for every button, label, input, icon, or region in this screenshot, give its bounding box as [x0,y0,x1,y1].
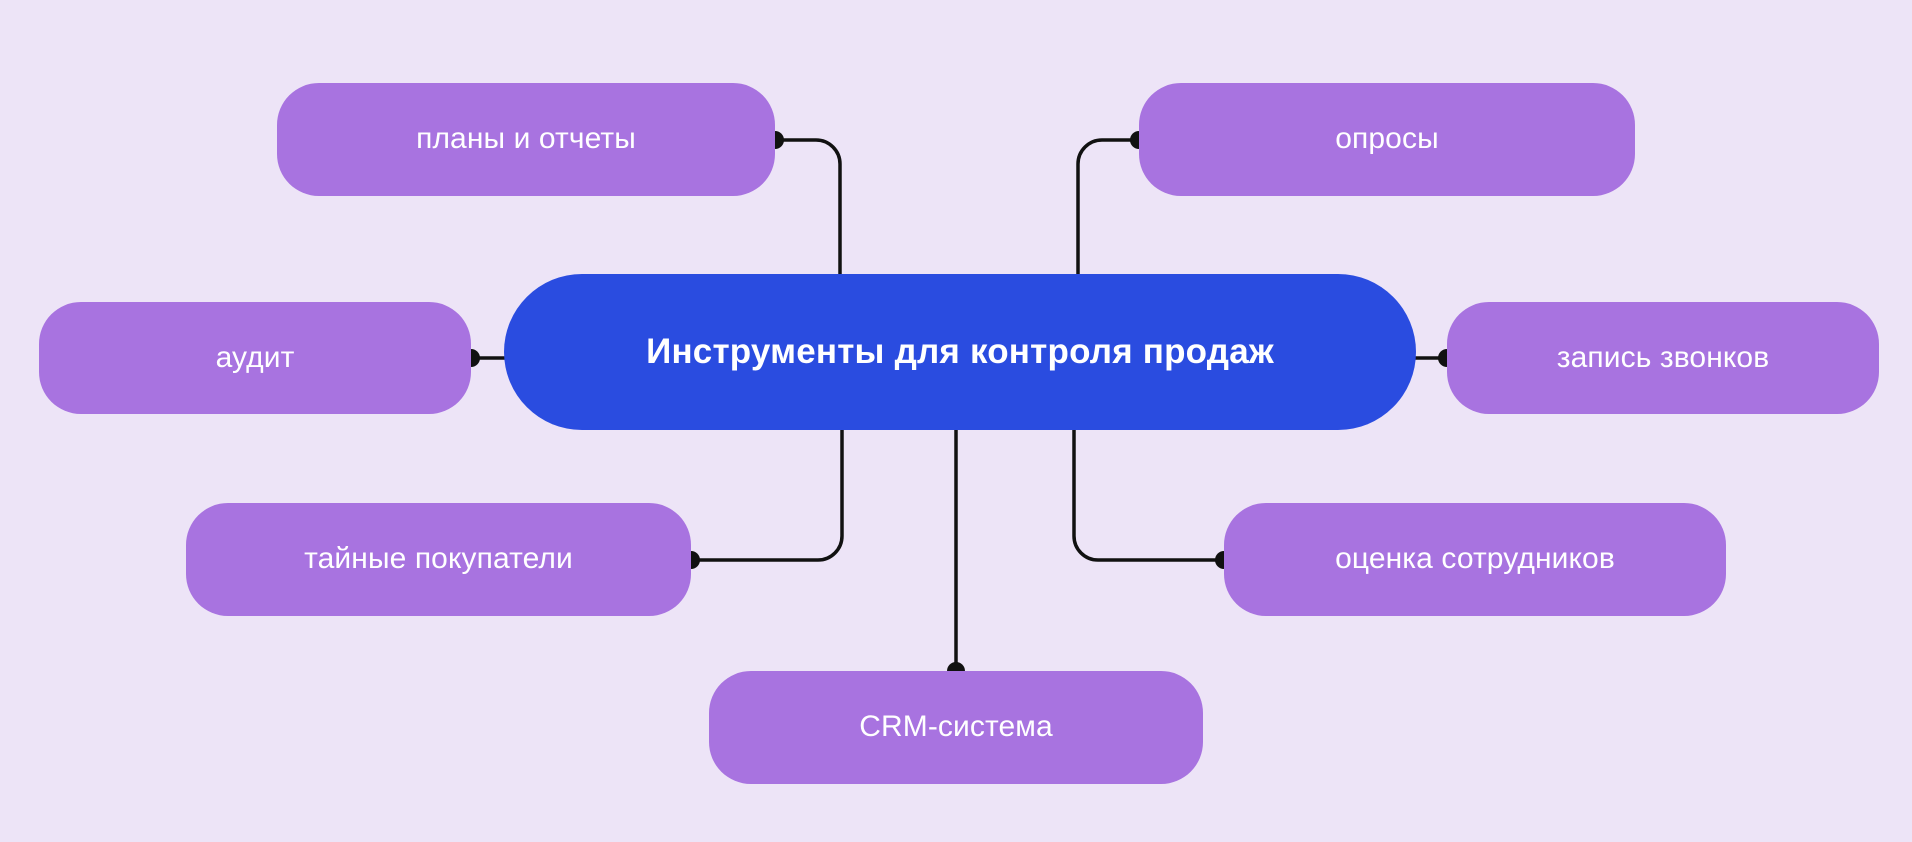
branch-node-oprosy[interactable]: опросы [1139,83,1635,196]
branch-label-plany-i-otchety: планы и отчеты [394,122,658,157]
branch-label-audit: аудит [194,341,317,376]
branch-node-zapis-zvonkov[interactable]: запись звонков [1447,302,1879,414]
mindmap-canvas: Инструменты для контроля продаж планы и … [0,0,1912,842]
branch-label-ocenka-sotrudnikov: оценка сотрудников [1313,542,1637,577]
branch-node-ocenka-sotrudnikov[interactable]: оценка сотрудников [1224,503,1726,616]
branch-node-plany-i-otchety[interactable]: планы и отчеты [277,83,775,196]
branch-label-crm-sistema: CRM-система [837,710,1075,745]
branch-node-taynye-pokupateli[interactable]: тайные покупатели [186,503,691,616]
connector-taynye-pokupateli [690,430,842,560]
center-node-label: Инструменты для контроля продаж [624,332,1296,372]
branch-label-taynye-pokupateli: тайные покупатели [282,542,595,577]
branch-label-oprosy: опросы [1313,122,1460,157]
branch-node-crm-sistema[interactable]: CRM-система [709,671,1203,784]
connector-ocenka-sotrudnikov [1074,430,1225,560]
branch-label-zapis-zvonkov: запись звонков [1535,341,1792,376]
center-node[interactable]: Инструменты для контроля продаж [504,274,1416,430]
branch-node-audit[interactable]: аудит [39,302,471,414]
